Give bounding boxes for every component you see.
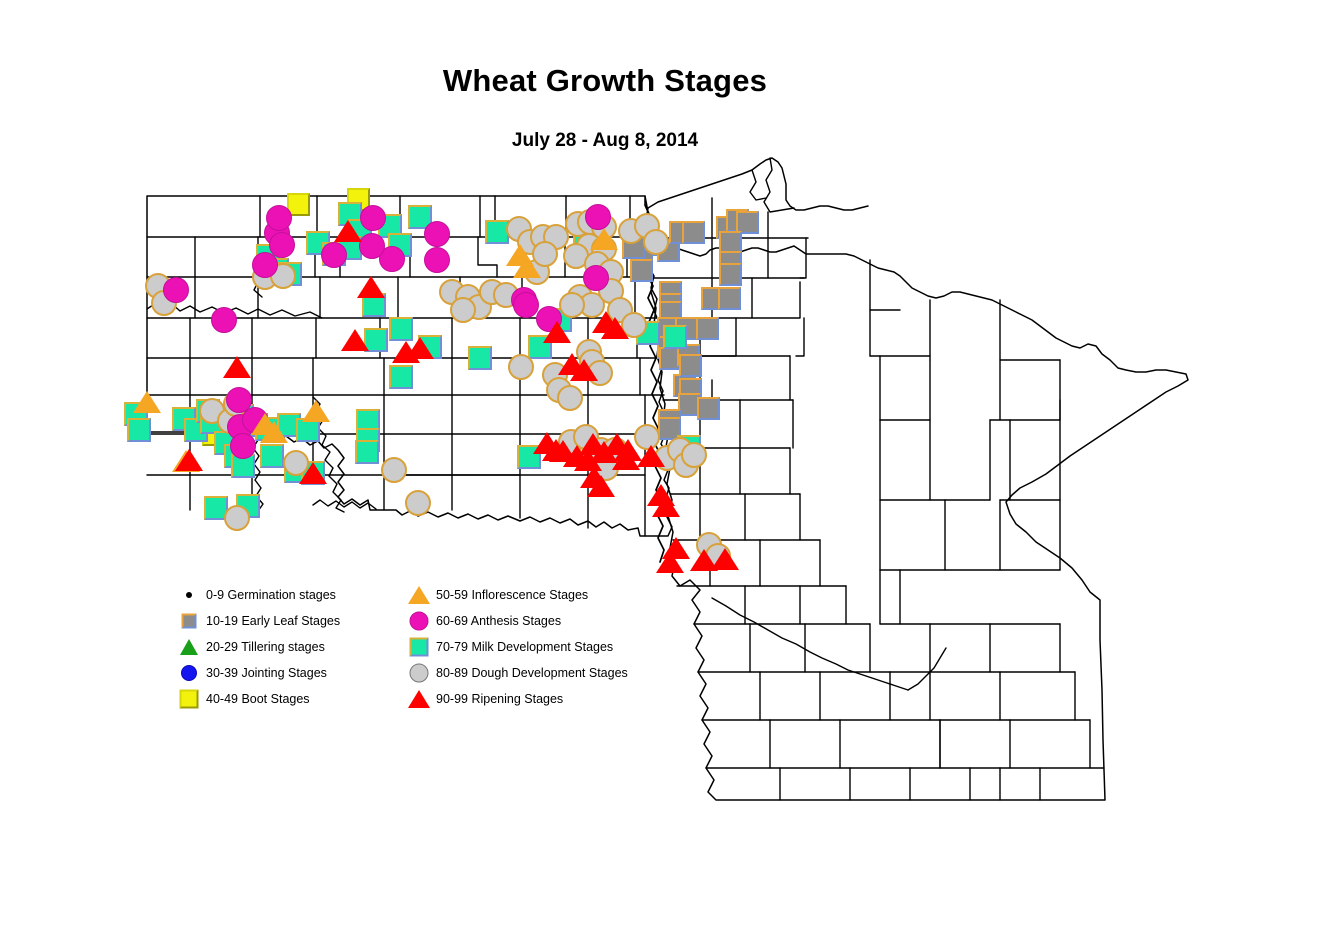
red-triangle-icon	[406, 686, 432, 712]
marker-anthesis	[424, 221, 450, 247]
marker-anthesis	[424, 247, 450, 273]
legend-item-anthesis[interactable]: 60-69 Anthesis Stages	[406, 608, 628, 634]
marker-ripening	[574, 449, 602, 471]
legend-item-germination[interactable]: 0-9 Germination stages	[176, 582, 340, 608]
green-triangle-icon	[176, 634, 202, 660]
marker-inflorescence	[302, 400, 330, 422]
marker-milk	[127, 418, 151, 442]
marker-inflorescence	[133, 391, 161, 413]
marker-inflorescence	[590, 228, 618, 250]
legend-label: 20-29 Tillering stages	[206, 640, 325, 654]
marker-ripening	[601, 317, 629, 339]
legend-label: 80-89 Dough Development Stages	[436, 666, 628, 680]
marker-ripening	[406, 337, 434, 359]
marker-ripening	[341, 329, 369, 351]
marker-ripening	[299, 462, 327, 484]
legend-label: 70-79 Milk Development Stages	[436, 640, 613, 654]
marker-ripening	[543, 321, 571, 343]
orange-triangle-icon	[406, 582, 432, 608]
marker-milk	[260, 444, 284, 468]
marker-ripening	[334, 220, 362, 242]
yellow-square-icon	[176, 686, 202, 712]
grey-square-icon	[176, 608, 202, 634]
marker-anthesis	[321, 242, 347, 268]
map-canvas	[0, 0, 1341, 926]
legend-label: 40-49 Boot Stages	[206, 692, 310, 706]
marker-ripening	[175, 449, 203, 471]
marker-anthesis	[269, 232, 295, 258]
marker-anthesis	[359, 233, 385, 259]
marker-dough	[559, 292, 585, 318]
magenta-circle-icon	[406, 608, 432, 634]
marker-ripening	[570, 359, 598, 381]
marker-dough	[681, 442, 707, 468]
marker-ripening	[612, 448, 640, 470]
marker-early-leaf	[630, 259, 653, 282]
marker-ripening	[223, 356, 251, 378]
marker-early-leaf	[679, 354, 702, 377]
legend-label: 0-9 Germination stages	[206, 588, 336, 602]
black-dot-icon	[176, 582, 202, 608]
legend-item-jointing[interactable]: 30-39 Jointing Stages	[176, 660, 340, 686]
legend-label: 10-19 Early Leaf Stages	[206, 614, 340, 628]
marker-dough	[450, 297, 476, 323]
legend-item-dough[interactable]: 80-89 Dough Development Stages	[406, 660, 628, 686]
marker-anthesis	[163, 277, 189, 303]
marker-anthesis	[583, 265, 609, 291]
marker-milk	[468, 346, 492, 370]
marker-early-leaf	[696, 317, 719, 340]
marker-anthesis	[513, 292, 539, 318]
marker-ripening	[711, 548, 739, 570]
marker-ripening	[637, 445, 665, 467]
marker-dough	[557, 385, 583, 411]
legend-label: 50-59 Inflorescence Stages	[436, 588, 588, 602]
legend-item-tillering[interactable]: 20-29 Tillering stages	[176, 634, 340, 660]
legend-item-inflorescence[interactable]: 50-59 Inflorescence Stages	[406, 582, 628, 608]
marker-dough	[381, 457, 407, 483]
marker-ripening	[652, 495, 680, 517]
legend: 0-9 Germination stages 10-19 Early Leaf …	[176, 582, 656, 710]
marker-anthesis	[360, 205, 386, 231]
green-square-icon	[406, 634, 432, 660]
legend-column-left: 0-9 Germination stages 10-19 Early Leaf …	[176, 582, 340, 712]
marker-anthesis	[211, 307, 237, 333]
legend-item-early-leaf[interactable]: 10-19 Early Leaf Stages	[176, 608, 340, 634]
marker-inflorescence	[513, 256, 541, 278]
marker-anthesis	[266, 205, 292, 231]
marker-anthesis	[585, 204, 611, 230]
marker-inflorescence	[260, 421, 288, 443]
marker-ripening	[587, 475, 615, 497]
marker-early-leaf	[718, 287, 741, 310]
blue-circle-icon	[176, 660, 202, 686]
marker-early-leaf	[697, 397, 720, 420]
legend-item-boot[interactable]: 40-49 Boot Stages	[176, 686, 340, 712]
marker-milk	[663, 325, 687, 349]
marker-dough	[508, 354, 534, 380]
grey-circle-icon	[406, 660, 432, 686]
marker-milk	[389, 365, 413, 389]
marker-dough	[224, 505, 250, 531]
legend-item-ripening[interactable]: 90-99 Ripening Stages	[406, 686, 628, 712]
legend-label: 90-99 Ripening Stages	[436, 692, 563, 706]
legend-label: 30-39 Jointing Stages	[206, 666, 327, 680]
legend-column-right: 50-59 Inflorescence Stages 60-69 Anthesi…	[406, 582, 628, 712]
marker-ripening	[542, 439, 570, 461]
legend-label: 60-69 Anthesis Stages	[436, 614, 561, 628]
marker-ripening	[656, 551, 684, 573]
marker-early-leaf	[682, 221, 705, 244]
legend-item-milk[interactable]: 70-79 Milk Development Stages	[406, 634, 628, 660]
marker-early-leaf	[719, 263, 742, 286]
marker-ripening	[357, 276, 385, 298]
marker-anthesis	[230, 433, 256, 459]
marker-dough	[405, 490, 431, 516]
marker-milk	[355, 440, 379, 464]
marker-dough	[643, 229, 669, 255]
